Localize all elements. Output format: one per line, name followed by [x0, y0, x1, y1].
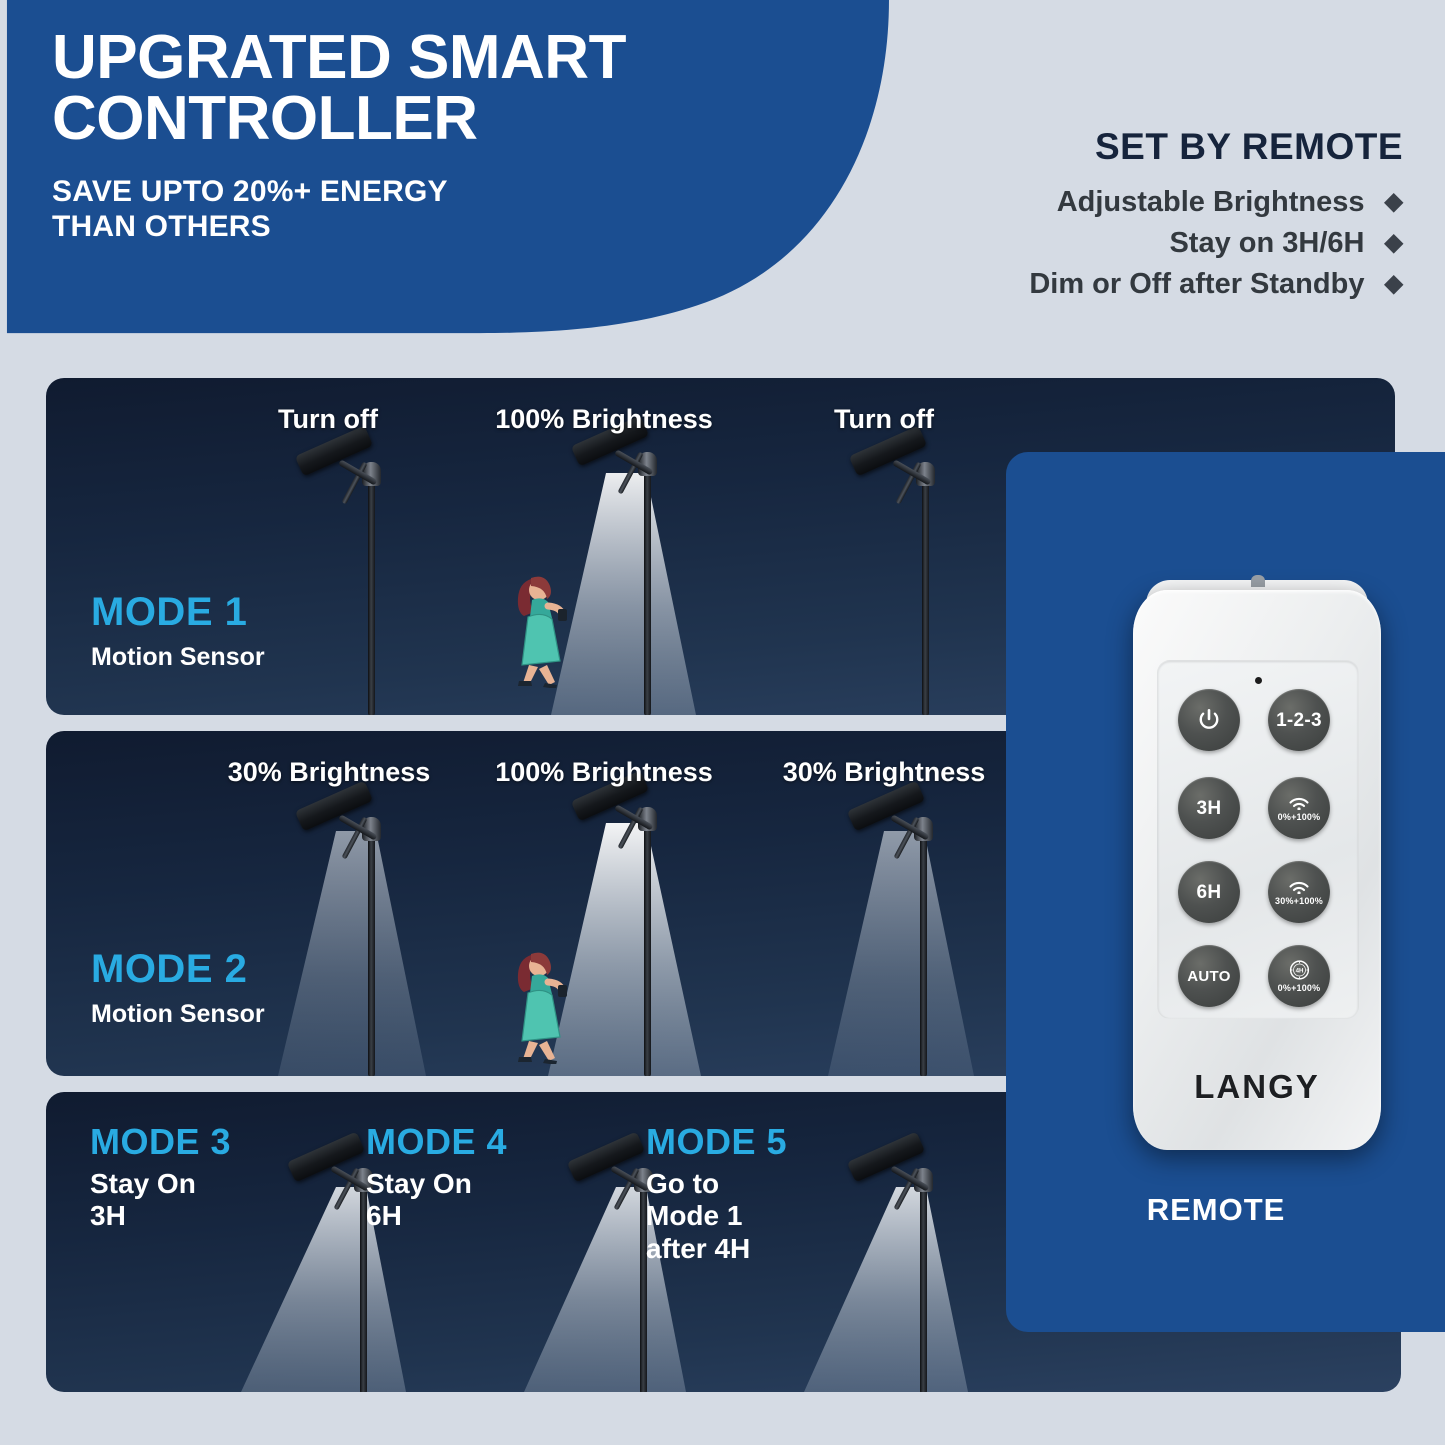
mode-3-line-1: Stay On — [90, 1168, 196, 1199]
street-lamp-1 — [282, 438, 422, 715]
lamp-caption-1: Turn off — [278, 404, 378, 435]
auto-button[interactable]: AUTO — [1178, 945, 1240, 1007]
lamp-caption-4: 30% Brightness — [228, 757, 431, 788]
street-lamp-5 — [554, 783, 704, 1076]
street-lamp-9 — [834, 1144, 974, 1392]
remote-caption: REMOTE — [1006, 1192, 1426, 1228]
power-button[interactable] — [1178, 689, 1240, 751]
preset-123-button[interactable]: 1-2-3 — [1268, 689, 1330, 751]
feature-item-1: Adjustable Brightness ◆ — [1029, 182, 1403, 223]
mode-1-label: MODE 1 Motion Sensor — [91, 592, 265, 672]
lamp-caption-2: 100% Brightness — [495, 404, 713, 435]
mode-1-title: MODE 1 — [91, 592, 265, 632]
header-text-block: UPGRATED SMART CONTROLLER SAVE UPTO 20%+… — [52, 28, 626, 244]
motion-sensor-icon — [1287, 795, 1311, 810]
infographic-canvas: Turn off 100% Brightness Turn off MODE 1… — [0, 0, 1445, 1445]
diamond-icon: ◆ — [1385, 267, 1403, 301]
timer-3h-label: 3H — [1197, 799, 1222, 818]
sensor-30-100-button[interactable]: 30%+100% — [1268, 861, 1330, 923]
mode-5-title: MODE 5 — [646, 1124, 787, 1160]
set-by-remote-title: SET BY REMOTE — [1029, 126, 1403, 168]
feature-item-3-label: Dim or Off after Standby — [1029, 268, 1364, 300]
power-icon — [1196, 707, 1222, 733]
lamp-caption-6: 30% Brightness — [783, 757, 986, 788]
mode-2-subtitle: Motion Sensor — [91, 999, 265, 1029]
timer-6h-label: 6H — [1197, 883, 1222, 902]
mode-3-label: MODE 3 Stay On 3H — [90, 1124, 231, 1233]
page-title-line-2: CONTROLLER — [52, 89, 626, 150]
ir-emitter-bump — [1251, 575, 1265, 587]
pedestrian-figure — [501, 949, 573, 1069]
sensor-30-100-label: 30%+100% — [1275, 897, 1323, 906]
auto-label: AUTO — [1187, 969, 1230, 984]
feature-item-3: Dim or Off after Standby ◆ — [1029, 264, 1403, 305]
clock-4h-icon: 4H — [1286, 959, 1313, 981]
timer-3h-button[interactable]: 3H — [1178, 777, 1240, 839]
page-subtitle-line-2: THAN OTHERS — [52, 209, 626, 244]
sensor-0-100-label: 0%+100% — [1278, 813, 1321, 822]
pedestrian-figure — [501, 573, 573, 693]
mode-4-label: MODE 4 Stay On 6H — [366, 1124, 507, 1233]
mode-3-line-2: 3H — [90, 1200, 126, 1231]
brand-logo: LANGY — [1133, 1068, 1381, 1106]
mode-2-label: MODE 2 Motion Sensor — [91, 949, 265, 1029]
clock-4h-sublabel: 0%+100% — [1278, 984, 1321, 993]
timer-6h-button[interactable]: 6H — [1178, 861, 1240, 923]
mode-5-line-1: Go to — [646, 1168, 719, 1199]
street-lamp-2 — [554, 428, 704, 715]
feature-item-2: Stay on 3H/6H ◆ — [1029, 223, 1403, 264]
motion-sensor-icon — [1287, 879, 1311, 894]
page-title-line-1: UPGRATED SMART — [52, 23, 626, 92]
diamond-icon: ◆ — [1385, 185, 1403, 219]
status-led-icon — [1255, 677, 1262, 684]
set-by-remote-block: SET BY REMOTE Adjustable Brightness ◆ St… — [1029, 126, 1403, 306]
street-lamp-4 — [282, 793, 422, 1076]
mode-2-title: MODE 2 — [91, 949, 265, 989]
street-lamp-3 — [836, 438, 976, 715]
lamp-caption-3: Turn off — [834, 404, 934, 435]
mode-5-line-2: Mode 1 — [646, 1200, 742, 1231]
feature-item-1-label: Adjustable Brightness — [1057, 186, 1365, 218]
sensor-0-100-button[interactable]: 0%+100% — [1268, 777, 1330, 839]
page-title: UPGRATED SMART CONTROLLER — [52, 28, 626, 150]
remote-control-device: 1-2-3 3H 0%+100% 6H — [1133, 590, 1381, 1150]
mode-5-line-3: after 4H — [646, 1233, 750, 1264]
page-subtitle-line-1: SAVE UPTO 20%+ ENERGY — [52, 175, 448, 208]
street-lamp-6 — [834, 793, 974, 1076]
lamp-caption-5: 100% Brightness — [495, 757, 713, 788]
preset-123-label: 1-2-3 — [1276, 711, 1322, 730]
svg-text:4H: 4H — [1295, 968, 1303, 975]
mode-3-title: MODE 3 — [90, 1124, 231, 1160]
diamond-icon: ◆ — [1385, 226, 1403, 260]
mode-4-line-2: 6H — [366, 1200, 402, 1231]
mode-1-subtitle: Motion Sensor — [91, 642, 265, 672]
clock-4h-button[interactable]: 4H 0%+100% — [1268, 945, 1330, 1007]
page-subtitle: SAVE UPTO 20%+ ENERGY THAN OTHERS — [52, 174, 626, 245]
remote-keypad: 1-2-3 3H 0%+100% 6H — [1157, 660, 1359, 1019]
mode-4-title: MODE 4 — [366, 1124, 507, 1160]
mode-5-label: MODE 5 Go to Mode 1 after 4H — [646, 1124, 787, 1265]
feature-item-2-label: Stay on 3H/6H — [1169, 227, 1364, 259]
mode-4-line-1: Stay On — [366, 1168, 472, 1199]
